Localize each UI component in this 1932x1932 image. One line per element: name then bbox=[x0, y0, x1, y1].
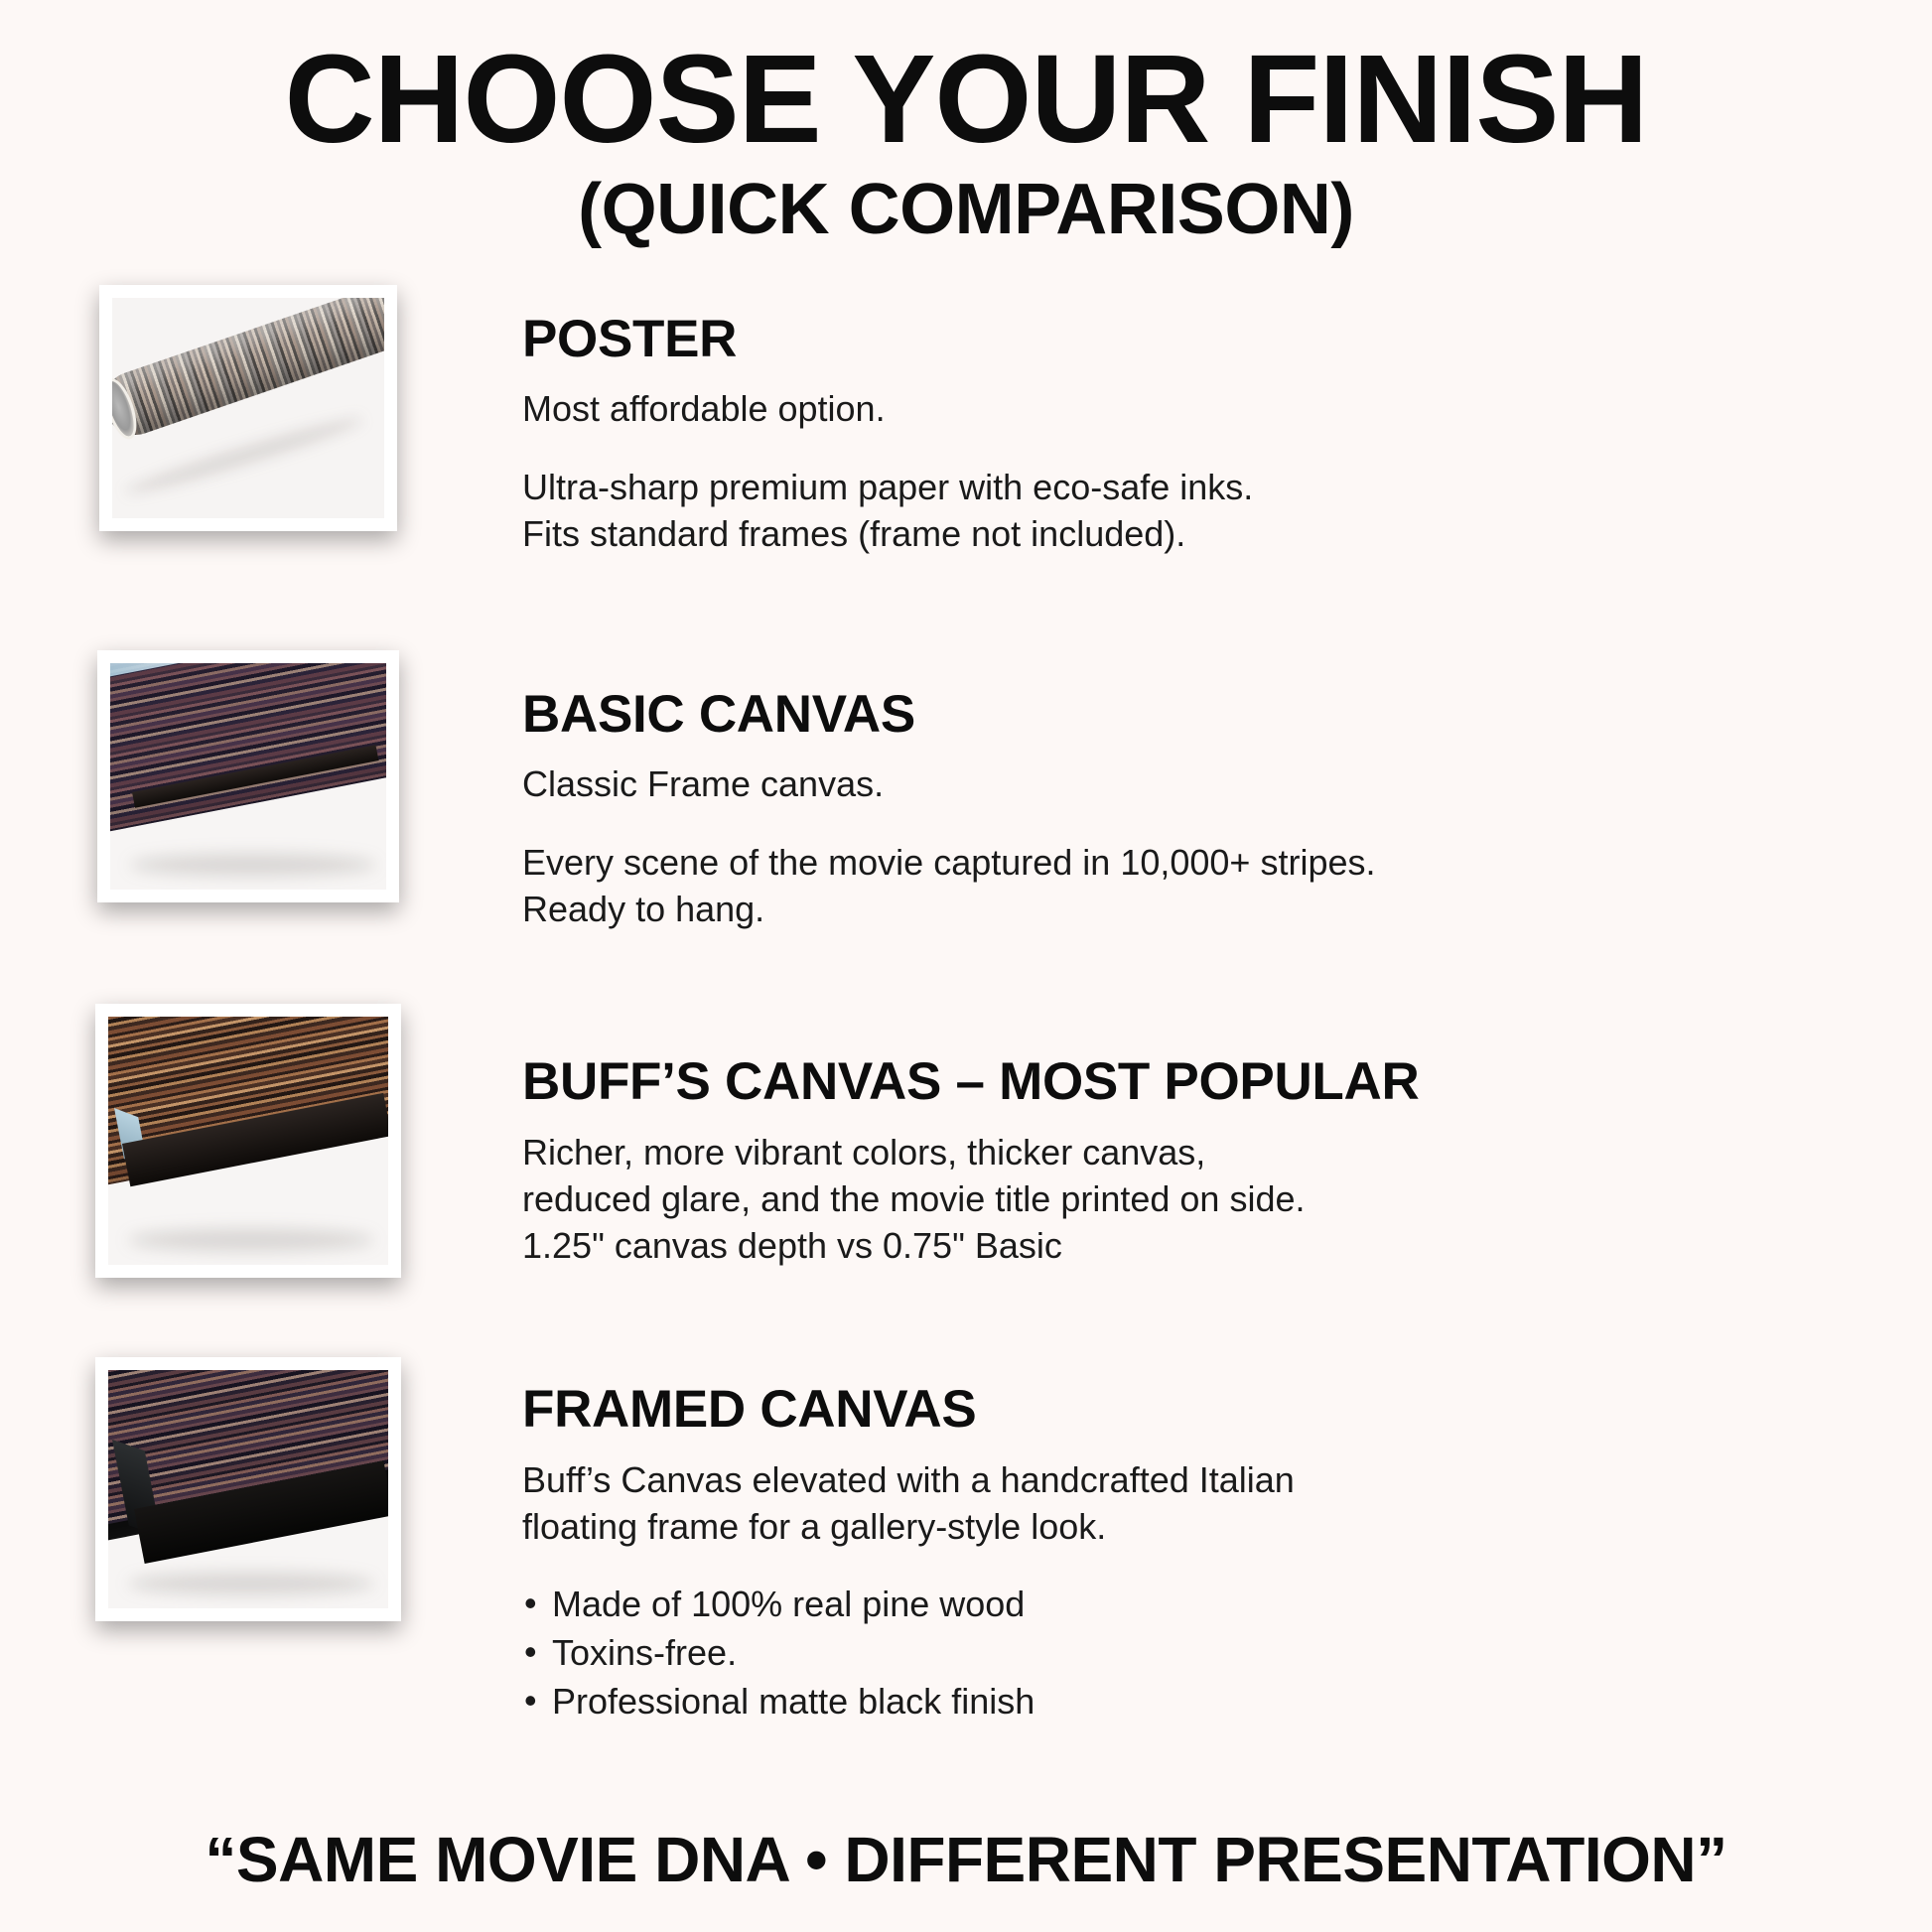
poster-photo-card bbox=[99, 285, 397, 531]
basic-canvas-detail-line-1: Every scene of the movie captured in 10,… bbox=[522, 840, 1892, 887]
poster-detail-line-1: Ultra-sharp premium paper with eco-safe … bbox=[522, 465, 1892, 511]
poster-text-block: POSTER Most affordable option. Ultra-sha… bbox=[496, 279, 1932, 558]
buffs-canvas-text-block: BUFF’S CANVAS – MOST POPULAR Richer, mor… bbox=[496, 1004, 1932, 1269]
finish-options-list: POSTER Most affordable option. Ultra-sha… bbox=[0, 279, 1932, 1723]
list-item: Professional matte black finish bbox=[522, 1678, 1892, 1726]
poster-detail-line-2: Fits standard frames (frame not included… bbox=[522, 511, 1892, 558]
framed-canvas-photo bbox=[108, 1370, 388, 1608]
framed-canvas-detail: Buff’s Canvas elevated with a handcrafte… bbox=[522, 1457, 1892, 1551]
basic-canvas-lead: Classic Frame canvas. bbox=[522, 762, 1892, 806]
footer-tagline: “SAME MOVIE DNA • DIFFERENT PRESENTATION… bbox=[0, 1823, 1932, 1896]
page-subtitle: (QUICK COMPARISON) bbox=[0, 171, 1932, 249]
rolled-poster-photo bbox=[112, 298, 384, 518]
poster-image-cell bbox=[0, 279, 496, 531]
basic-canvas-text-block: BASIC CANVAS Classic Frame canvas. Every… bbox=[496, 648, 1932, 933]
buffs-canvas-illustration bbox=[108, 1017, 388, 1265]
buffs-canvas-photo-card bbox=[95, 1004, 401, 1278]
framed-canvas-illustration bbox=[108, 1370, 388, 1608]
framed-canvas-detail-line-1: Buff’s Canvas elevated with a handcrafte… bbox=[522, 1457, 1892, 1504]
basic-canvas-photo bbox=[110, 663, 386, 890]
framed-canvas-feature-list: Made of 100% real pine wood Toxins-free.… bbox=[522, 1581, 1892, 1726]
basic-canvas-detail: Every scene of the movie captured in 10,… bbox=[522, 840, 1892, 933]
buffs-canvas-photo bbox=[108, 1017, 388, 1265]
buffs-canvas-detail-line-1: Richer, more vibrant colors, thicker can… bbox=[522, 1130, 1892, 1176]
basic-canvas-photo-card bbox=[97, 650, 399, 902]
footer: “SAME MOVIE DNA • DIFFERENT PRESENTATION… bbox=[0, 1823, 1932, 1896]
framed-canvas-image-cell bbox=[0, 1353, 496, 1621]
buffs-canvas-title: BUFF’S CANVAS – MOST POPULAR bbox=[522, 1055, 1892, 1108]
basic-canvas-shadow bbox=[130, 854, 376, 876]
framed-canvas-title: FRAMED CANVAS bbox=[522, 1383, 1892, 1436]
buffs-canvas-shadow bbox=[128, 1229, 374, 1251]
buffs-canvas-detail-line-3: 1.25" canvas depth vs 0.75" Basic bbox=[522, 1223, 1892, 1270]
poster-detail: Ultra-sharp premium paper with eco-safe … bbox=[522, 465, 1892, 558]
framed-canvas-detail-line-2: floating frame for a gallery-style look. bbox=[522, 1504, 1892, 1551]
buffs-canvas-detail-line-2: reduced glare, and the movie title print… bbox=[522, 1176, 1892, 1223]
framed-canvas-text-block: FRAMED CANVAS Buff’s Canvas elevated wit… bbox=[496, 1353, 1932, 1725]
poster-lead: Most affordable option. bbox=[522, 387, 1892, 431]
list-item: Toxins-free. bbox=[522, 1629, 1892, 1678]
poster-title: POSTER bbox=[522, 313, 1892, 365]
framed-canvas-photo-card bbox=[95, 1357, 401, 1621]
buffs-canvas-image-cell bbox=[0, 1004, 496, 1278]
option-row-poster: POSTER Most affordable option. Ultra-sha… bbox=[0, 279, 1932, 648]
framed-canvas-shadow bbox=[128, 1573, 374, 1594]
option-row-buffs-canvas: BUFF’S CANVAS – MOST POPULAR Richer, mor… bbox=[0, 1004, 1932, 1353]
header: CHOOSE YOUR FINISH (QUICK COMPARISON) bbox=[0, 0, 1932, 249]
basic-canvas-illustration bbox=[110, 663, 386, 890]
list-item: Made of 100% real pine wood bbox=[522, 1581, 1892, 1629]
basic-canvas-detail-line-2: Ready to hang. bbox=[522, 887, 1892, 933]
buffs-canvas-detail: Richer, more vibrant colors, thicker can… bbox=[522, 1130, 1892, 1269]
option-row-basic-canvas: BASIC CANVAS Classic Frame canvas. Every… bbox=[0, 648, 1932, 1004]
page-title: CHOOSE YOUR FINISH bbox=[0, 34, 1932, 165]
poster-roll-illustration bbox=[112, 298, 384, 518]
basic-canvas-title: BASIC CANVAS bbox=[522, 688, 1892, 741]
basic-canvas-image-cell bbox=[0, 648, 496, 902]
option-row-framed-canvas: FRAMED CANVAS Buff’s Canvas elevated wit… bbox=[0, 1353, 1932, 1723]
